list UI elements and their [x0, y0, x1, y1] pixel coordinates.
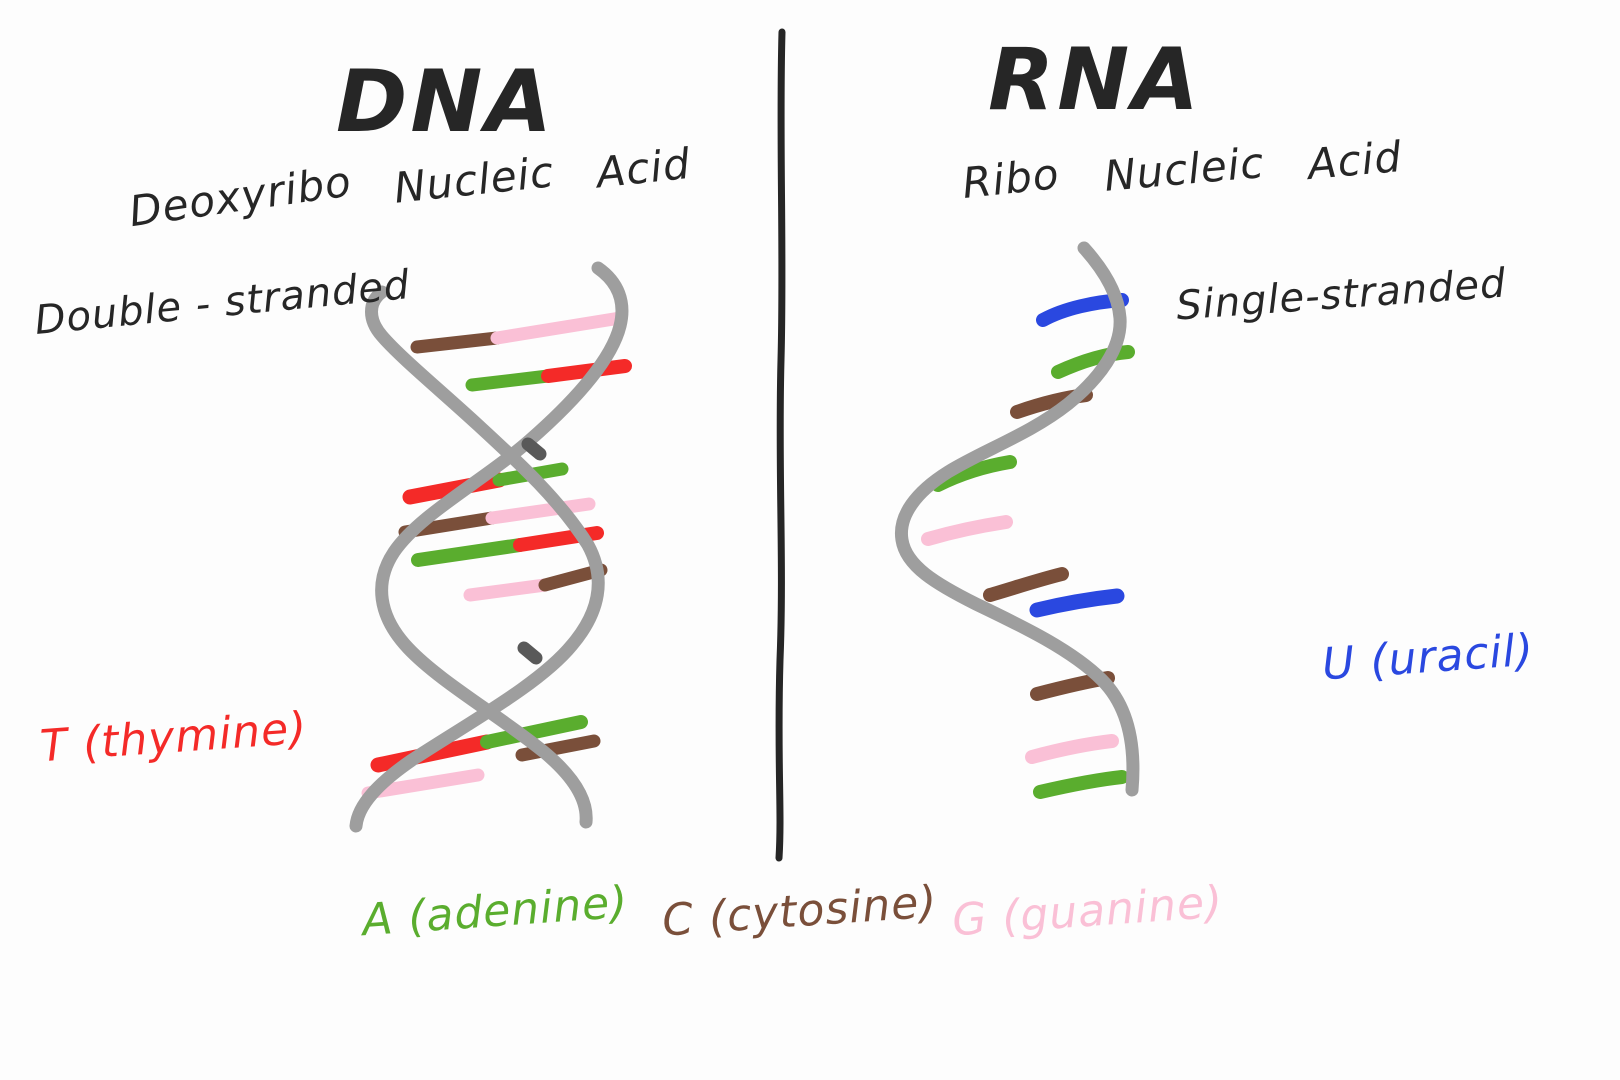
- rna-subtitle-word-1: Ribo: [960, 149, 1062, 208]
- rna-subtitle-word-3: Acid: [1306, 132, 1404, 189]
- dna-title: DNA: [336, 52, 555, 152]
- dna-base-guanine: [470, 585, 545, 595]
- diagram-canvas: DNA Deoxyribo Nucleic Acid RNA Ribo Nucl…: [0, 0, 1620, 1080]
- rna-base-guanine: [1032, 741, 1112, 757]
- rna-title: RNA: [988, 30, 1202, 130]
- dna-base-cytosine: [417, 338, 497, 347]
- dna-base-adenine: [472, 376, 548, 385]
- vertical-divider-line: [779, 32, 782, 858]
- dna-base-adenine: [418, 545, 520, 560]
- dna-base-guanine: [497, 318, 620, 338]
- dna-strand-crossing-lower: [524, 648, 536, 658]
- rna-base-guanine: [928, 522, 1006, 539]
- dna-strand-crossing-upper: [528, 444, 540, 454]
- rna-base-adenine: [1040, 777, 1122, 792]
- rna-base-cytosine: [990, 574, 1062, 595]
- rna-base-uracil: [1043, 300, 1122, 320]
- dna-double-helix: [356, 268, 625, 826]
- rna-base-uracil: [1037, 596, 1117, 610]
- rna-single-strand: [901, 248, 1133, 792]
- dna-subtitle-word-3: Acid: [594, 139, 693, 198]
- rna-backbone: [901, 248, 1133, 790]
